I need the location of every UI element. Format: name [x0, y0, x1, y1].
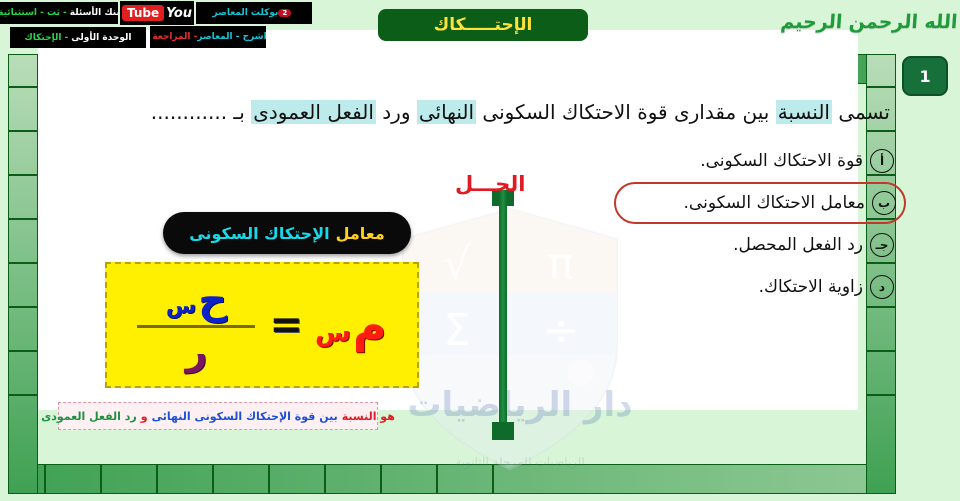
- formula-fraction-bar: [137, 325, 255, 328]
- frame-notch: [8, 394, 38, 396]
- answer-option-d[interactable]: د زاوية الاحتكاك.: [598, 266, 898, 308]
- frame-notch: [156, 464, 158, 494]
- formula-lhs: م س: [315, 298, 387, 352]
- vertical-divider: [492, 190, 514, 440]
- page-number-badge: 1: [902, 56, 948, 96]
- question-highlight-1: النسبة: [776, 100, 832, 124]
- formula-denominator: ر: [186, 329, 208, 373]
- tag-question-bank-meta: - ثت - استثنائية: [0, 8, 67, 18]
- question-part-1: تسمى: [832, 100, 890, 124]
- question-part-3: ورد: [376, 100, 417, 124]
- tag-unit-meta: - الإحتكاك: [25, 33, 69, 43]
- question-part-4: بـ ............: [151, 100, 251, 124]
- formula-equals-sign: =: [269, 302, 301, 348]
- option-label-a: قوة الاحتكاك السكونى.: [700, 151, 863, 171]
- tag-question-bank[interactable]: بنك الأسئلة - ثت - استثنائية: [0, 2, 118, 24]
- note-text-red-2: و: [141, 410, 148, 423]
- tag-unit-label: الوحدة الأولى: [71, 33, 131, 43]
- divider-bar: [499, 190, 507, 440]
- frame-notch: [8, 174, 38, 176]
- formula-lhs-subscript: س: [315, 318, 351, 348]
- frame-notch: [866, 86, 896, 88]
- frame-notch: [324, 464, 326, 494]
- option-label-b: معامل الاحتكاك السكونى.: [684, 193, 865, 213]
- frame-notch: [8, 86, 38, 88]
- page-title: الإحتـــــكاك: [378, 9, 588, 41]
- question-part-2: بين مقدارى قوة الاحتكاك السكونى: [476, 100, 776, 124]
- tag-explain[interactable]: اشرح - المعاصر - المراجعة: [150, 26, 266, 48]
- option-label-c: رد الفعل المحصل.: [733, 235, 863, 255]
- tag-booklet[interactable]: 2 بوكلت المعاصر: [196, 2, 312, 24]
- tag-explain-extra: - المراجعة: [152, 32, 197, 42]
- frame-notch: [866, 394, 896, 396]
- basmala-calligraphy: بسم الله الرحمن الرحيم: [833, 2, 954, 42]
- note-text-blue: بين قوة الإحتكاك السكونى النهائى: [152, 410, 338, 423]
- question-highlight-2: النهائى: [417, 100, 476, 124]
- formula-numerator: ح س: [166, 277, 227, 323]
- frame-notch: [100, 464, 102, 494]
- question-highlight-3: الفعل العمودى: [251, 100, 376, 124]
- formula-numerator-subscript: س: [166, 294, 196, 319]
- tag-booklet-label: بوكلت المعاصر: [213, 8, 279, 18]
- tag-explain-label: اشرح - المعاصر: [197, 32, 266, 42]
- option-marker-a: أ: [870, 149, 894, 173]
- banner-text-cyan: الإحتكاك السكونى: [189, 224, 329, 243]
- answer-option-c[interactable]: جـ رد الفعل المحصل.: [598, 224, 898, 266]
- frame-notch: [8, 262, 38, 264]
- frame-notch: [8, 306, 38, 308]
- frame-notch: [380, 464, 382, 494]
- option-marker-d: د: [870, 275, 894, 299]
- frame-notch: [212, 464, 214, 494]
- question-text: تسمى النسبة بين مقدارى قوة الاحتكاك السك…: [100, 100, 890, 124]
- frame-notch: [8, 218, 38, 220]
- frame-left-rail: [8, 54, 38, 494]
- note-text-red-1: هو النسبة: [342, 410, 395, 423]
- frame-notch: [866, 350, 896, 352]
- frame-notch: [8, 350, 38, 352]
- option-label-d: زاوية الاحتكاك.: [759, 277, 863, 297]
- formula-equation: م س = ح س ر: [107, 264, 417, 386]
- banner-text-yellow: معامل: [336, 224, 385, 243]
- answer-options-list: أ قوة الاحتكاك السكونى. ب معامل الاحتكاك…: [598, 140, 898, 308]
- tag-unit[interactable]: الوحدة الأولى - الإحتكاك: [10, 27, 146, 48]
- solution-title-banner: معامل الإحتكاك السكونى: [163, 212, 411, 254]
- option-marker-b: ب: [872, 191, 896, 215]
- formula-fraction: ح س ر: [137, 277, 255, 373]
- answer-option-b-selected[interactable]: ب معامل الاحتكاك السكونى.: [614, 182, 906, 224]
- note-text-green: رد الفعل العمودى: [41, 410, 137, 423]
- tag-question-bank-label: بنك الأسئلة: [70, 8, 118, 18]
- formula-lhs-symbol: م: [353, 298, 387, 352]
- booklet-badge-count: 2: [278, 9, 291, 17]
- solution-heading: الحـــل: [455, 172, 526, 196]
- frame-notch: [866, 130, 896, 132]
- frame-notch: [8, 130, 38, 132]
- frame-notch: [44, 464, 46, 494]
- formula-box: م س = ح س ر: [105, 262, 419, 388]
- solution-definition-note: هو النسبة بين قوة الإحتكاك السكونى النها…: [58, 402, 378, 430]
- answer-option-a[interactable]: أ قوة الاحتكاك السكونى.: [598, 140, 898, 182]
- youtube-tube-text: Tube: [122, 5, 164, 21]
- formula-numerator-symbol: ح: [198, 277, 227, 323]
- frame-bottom-rail: [8, 464, 896, 494]
- option-marker-c: جـ: [870, 233, 894, 257]
- youtube-you-text: You: [166, 6, 192, 21]
- frame-notch: [436, 464, 438, 494]
- frame-notch: [268, 464, 270, 494]
- frame-notch: [492, 464, 494, 494]
- divider-bottom-cap: [492, 422, 514, 440]
- youtube-badge[interactable]: You Tube: [120, 1, 194, 25]
